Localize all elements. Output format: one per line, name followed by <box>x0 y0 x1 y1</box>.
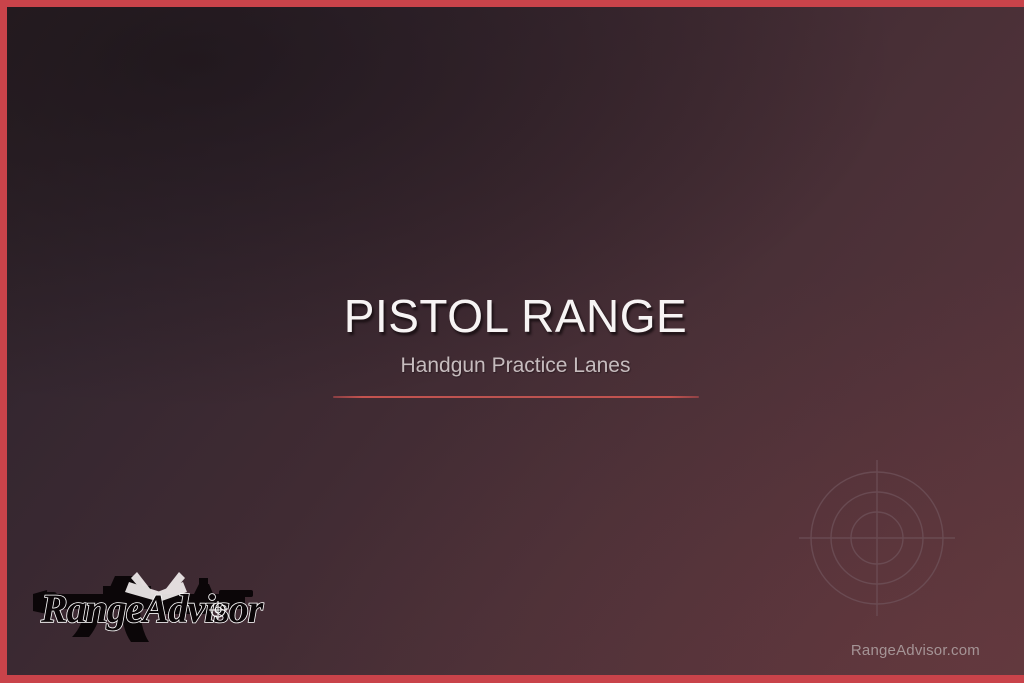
reticle-ring-middle <box>831 492 923 584</box>
slide-frame: PISTOL RANGE Handgun Practice Lanes Rang… <box>0 0 1024 683</box>
logo-wordmark: RangeAdvisor <box>40 586 264 631</box>
page-title: PISTOL RANGE <box>7 290 1024 342</box>
title-block: PISTOL RANGE Handgun Practice Lanes <box>7 290 1024 398</box>
target-reticle <box>797 458 957 618</box>
slide-canvas: PISTOL RANGE Handgun Practice Lanes Rang… <box>7 7 1024 675</box>
reticle-ring-outer <box>811 472 943 604</box>
reticle-ring-inner <box>851 512 903 564</box>
site-url-watermark: RangeAdvisor.com <box>851 642 980 659</box>
page-subtitle: Handgun Practice Lanes <box>7 352 1024 380</box>
brand-logo: RangeAdvisor <box>33 564 269 648</box>
title-divider <box>333 396 699 398</box>
